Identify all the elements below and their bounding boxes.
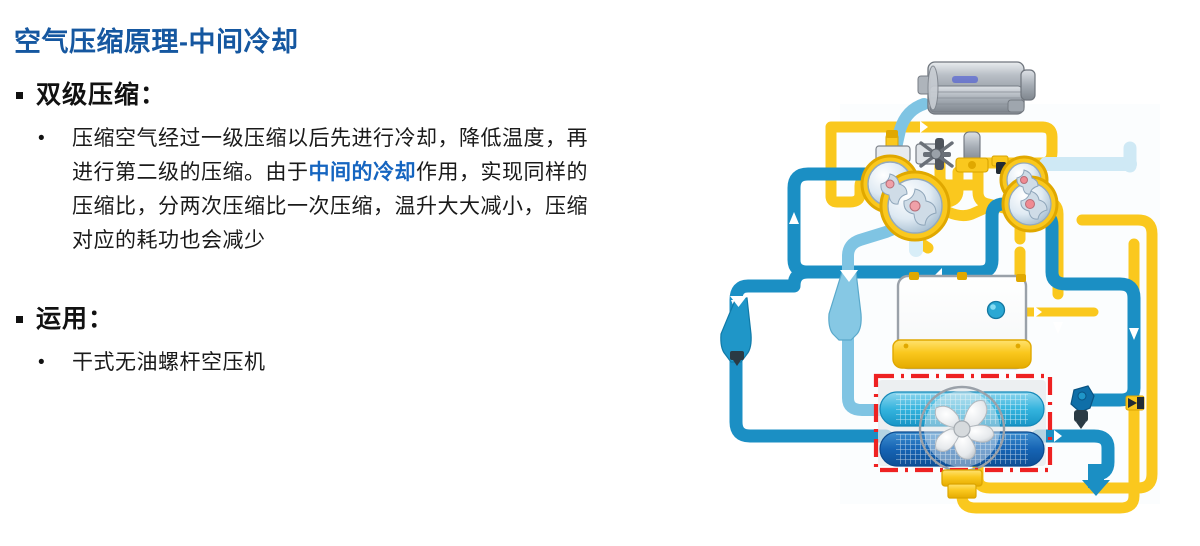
section-heading-1-label: 双级压缩： <box>36 78 166 112</box>
bullet-line: 对应的耗功也会减少 <box>72 224 677 258</box>
section-heading-2-label: 运用： <box>36 302 114 336</box>
bullet-line: 压缩空气经过一级压缩以后先进行冷却，降低温度，再 <box>72 122 677 156</box>
bullet-item-2-text: 干式无油螺杆空压机 <box>72 346 677 380</box>
bullet-line-part: 压缩比，分两次压缩比一次压缩，温升大大减小，压缩 <box>72 195 588 218</box>
bullet-line-part: 进行第二级的压缩。由于 <box>72 161 309 184</box>
section-spacer <box>10 258 690 302</box>
bullet-item-1: • 压缩空气经过一级压缩以后先进行冷却，降低温度，再 进行第二级的压缩。由于中间… <box>10 122 690 258</box>
bullet-line-part: 压缩空气经过一级压缩以后先进行冷却，降低温度，再 <box>72 127 588 150</box>
level1-bullet-icon <box>10 78 36 112</box>
bullet-line: 干式无油螺杆空压机 <box>72 346 677 380</box>
oil-separator-tank <box>893 276 1031 368</box>
level-sensor <box>988 302 1005 319</box>
cooler-assembly <box>878 380 1046 471</box>
level2-bullet-icon: • <box>10 122 72 156</box>
section-heading-2: 运用： <box>10 302 690 336</box>
level2-bullet-icon: • <box>10 346 72 380</box>
bullet-line-part: 作用，实现同样的 <box>416 161 588 184</box>
page-title: 空气压缩原理-中间冷却 <box>14 20 299 59</box>
bullet-line: 进行第二级的压缩。由于中间的冷却作用，实现同样的 <box>72 156 677 190</box>
level1-bullet-icon <box>10 302 36 336</box>
oil-level <box>893 340 1031 368</box>
bullet-line-part: 干式无油螺杆空压机 <box>72 351 266 374</box>
bullet-item-1-text: 压缩空气经过一级压缩以后先进行冷却，降低温度，再 进行第二级的压缩。由于中间的冷… <box>72 122 677 258</box>
bullet-line-part-highlight: 中间的冷却 <box>309 161 417 184</box>
section-heading-1: 双级压缩： <box>10 78 690 112</box>
content-body: 双级压缩： • 压缩空气经过一级压缩以后先进行冷却，降低温度，再 进行第二级的压… <box>10 78 690 380</box>
air-filter <box>918 62 1035 114</box>
cooling-fan <box>920 387 1004 471</box>
oil-cooler-sump <box>942 470 982 498</box>
filter-label <box>952 76 978 83</box>
slide-canvas: 空气压缩原理-中间冷却 双级压缩： • 压缩空气经过一级压缩以后先进行冷却，降低… <box>0 0 1200 546</box>
compressor-schematic-diagram <box>690 44 1200 546</box>
bullet-item-2: • 干式无油螺杆空压机 <box>10 346 690 380</box>
bullet-line: 压缩比，分两次压缩比一次压缩，温升大大减小，压缩 <box>72 190 677 224</box>
bullet-line-part: 对应的耗功也会减少 <box>72 229 266 252</box>
oil-check-valve <box>1126 396 1144 410</box>
